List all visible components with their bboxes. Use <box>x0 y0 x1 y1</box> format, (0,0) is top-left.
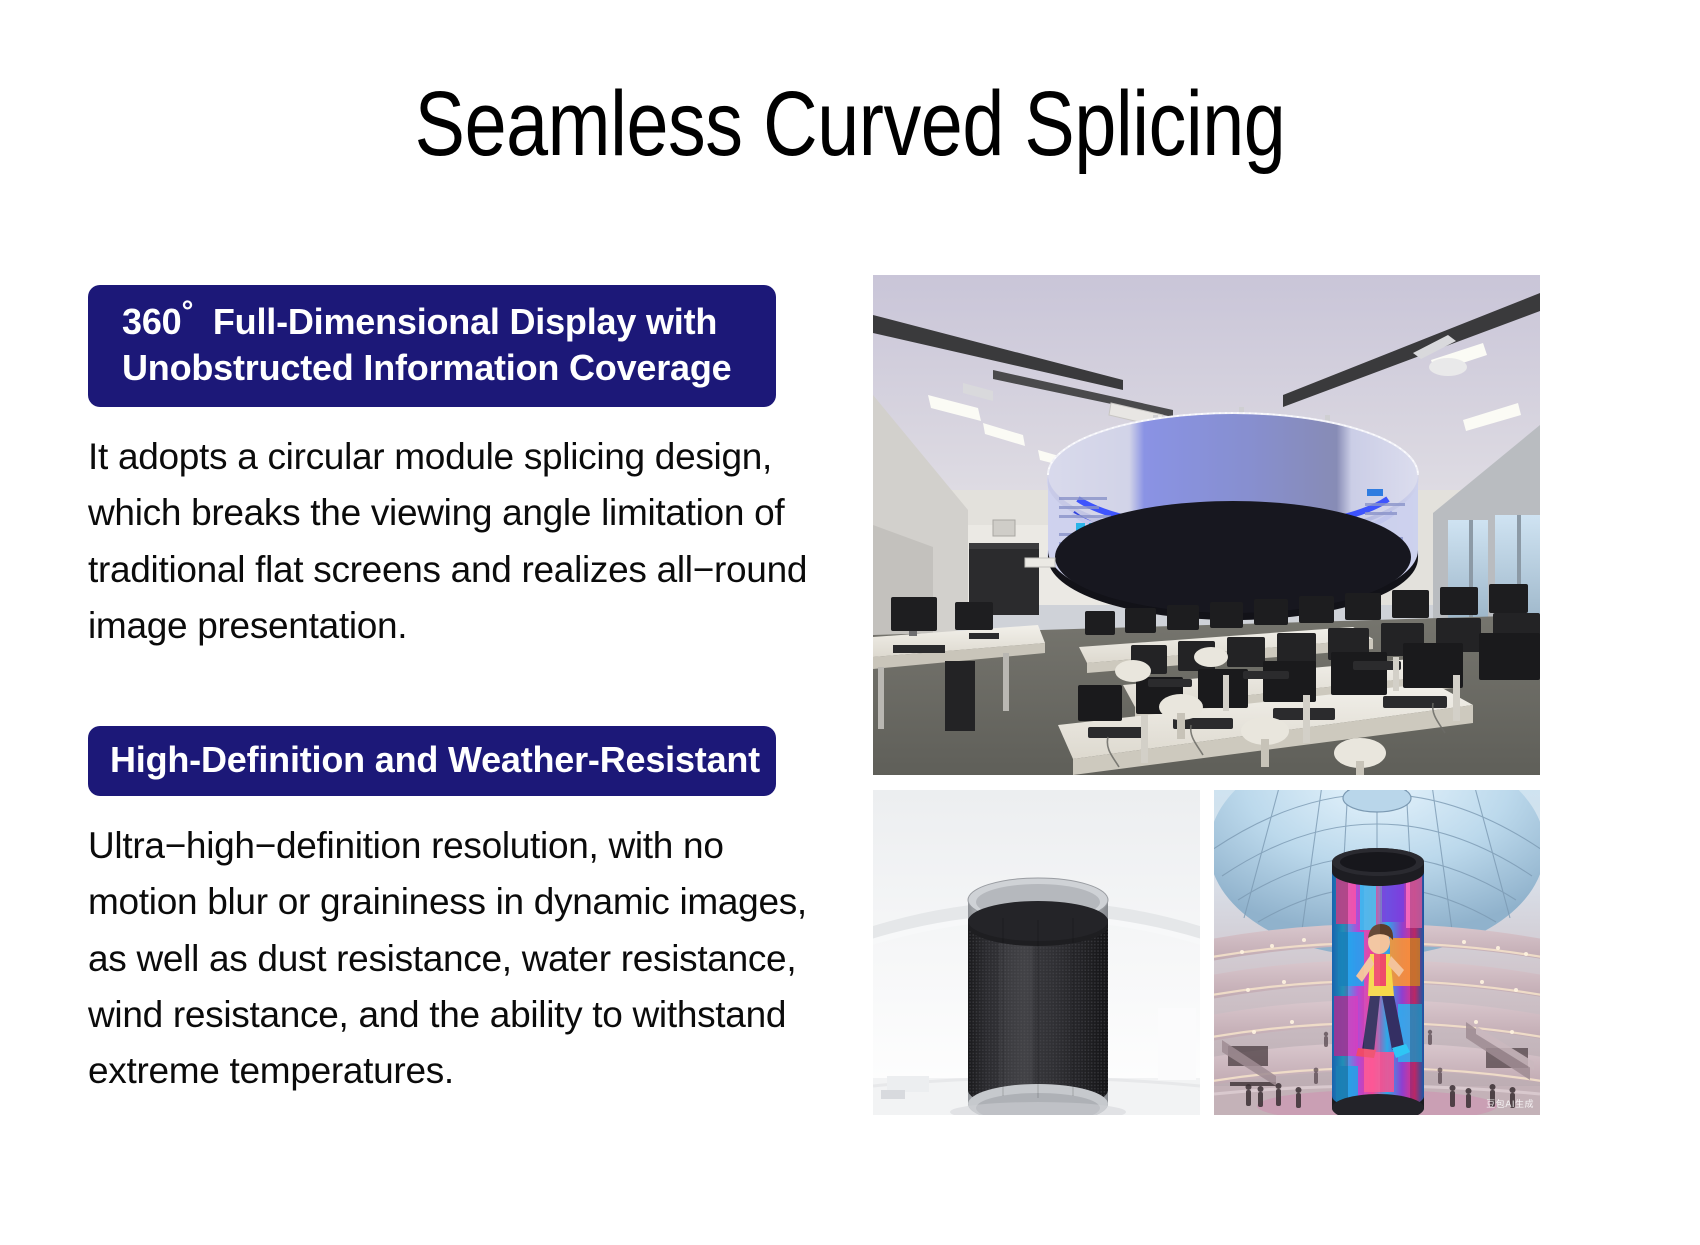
feature-body-2-text: Ultra−high−definition resolution, with n… <box>88 818 818 1099</box>
feature-body-1: It adopts a circular module splicing des… <box>88 429 818 654</box>
badge-degree-value: 360 <box>122 301 181 342</box>
photo-mall-atrium-led-cylinder: 豆包AI生成 <box>1214 790 1540 1115</box>
photo-black-led-cylinder-showroom <box>873 790 1200 1115</box>
degree-icon: ° <box>181 295 193 328</box>
led-cylinder-illustration <box>873 790 1200 1115</box>
mall-led-cylinder <box>1332 848 1424 1115</box>
feature-body-1-text: It adopts a circular module splicing des… <box>88 429 818 654</box>
feature-badge-1-line-2: Unobstructed Information Coverage <box>122 345 754 391</box>
feature-badge-1-line-1: 360° Full-Dimensional Display with <box>122 299 754 345</box>
feature-badge-2: High-Definition and Weather-Resistant <box>88 726 776 796</box>
black-cylinder <box>968 878 1108 1115</box>
page-title: Seamless Curved Splicing <box>153 78 1547 170</box>
classroom-illustration <box>873 275 1540 775</box>
mall-atrium-illustration <box>1214 790 1540 1115</box>
section-spacer <box>88 654 808 726</box>
circular-led-ring <box>1047 413 1418 620</box>
slide-root: Seamless Curved Splicing 360° Full-Dimen… <box>0 0 1700 1245</box>
feature-body-2: Ultra−high−definition resolution, with n… <box>88 818 818 1099</box>
ai-watermark: 豆包AI生成 <box>1486 1097 1534 1110</box>
feature-badge-1-line-1-text: Full-Dimensional Display with <box>213 301 717 342</box>
feature-badge-2-line-1: High-Definition and Weather-Resistant <box>110 737 754 783</box>
photo-classroom-circular-led-ceiling <box>873 275 1540 775</box>
feature-badge-1: 360° Full-Dimensional Display with Unobs… <box>88 285 776 407</box>
left-content-column: 360° Full-Dimensional Display with Unobs… <box>88 285 808 1099</box>
